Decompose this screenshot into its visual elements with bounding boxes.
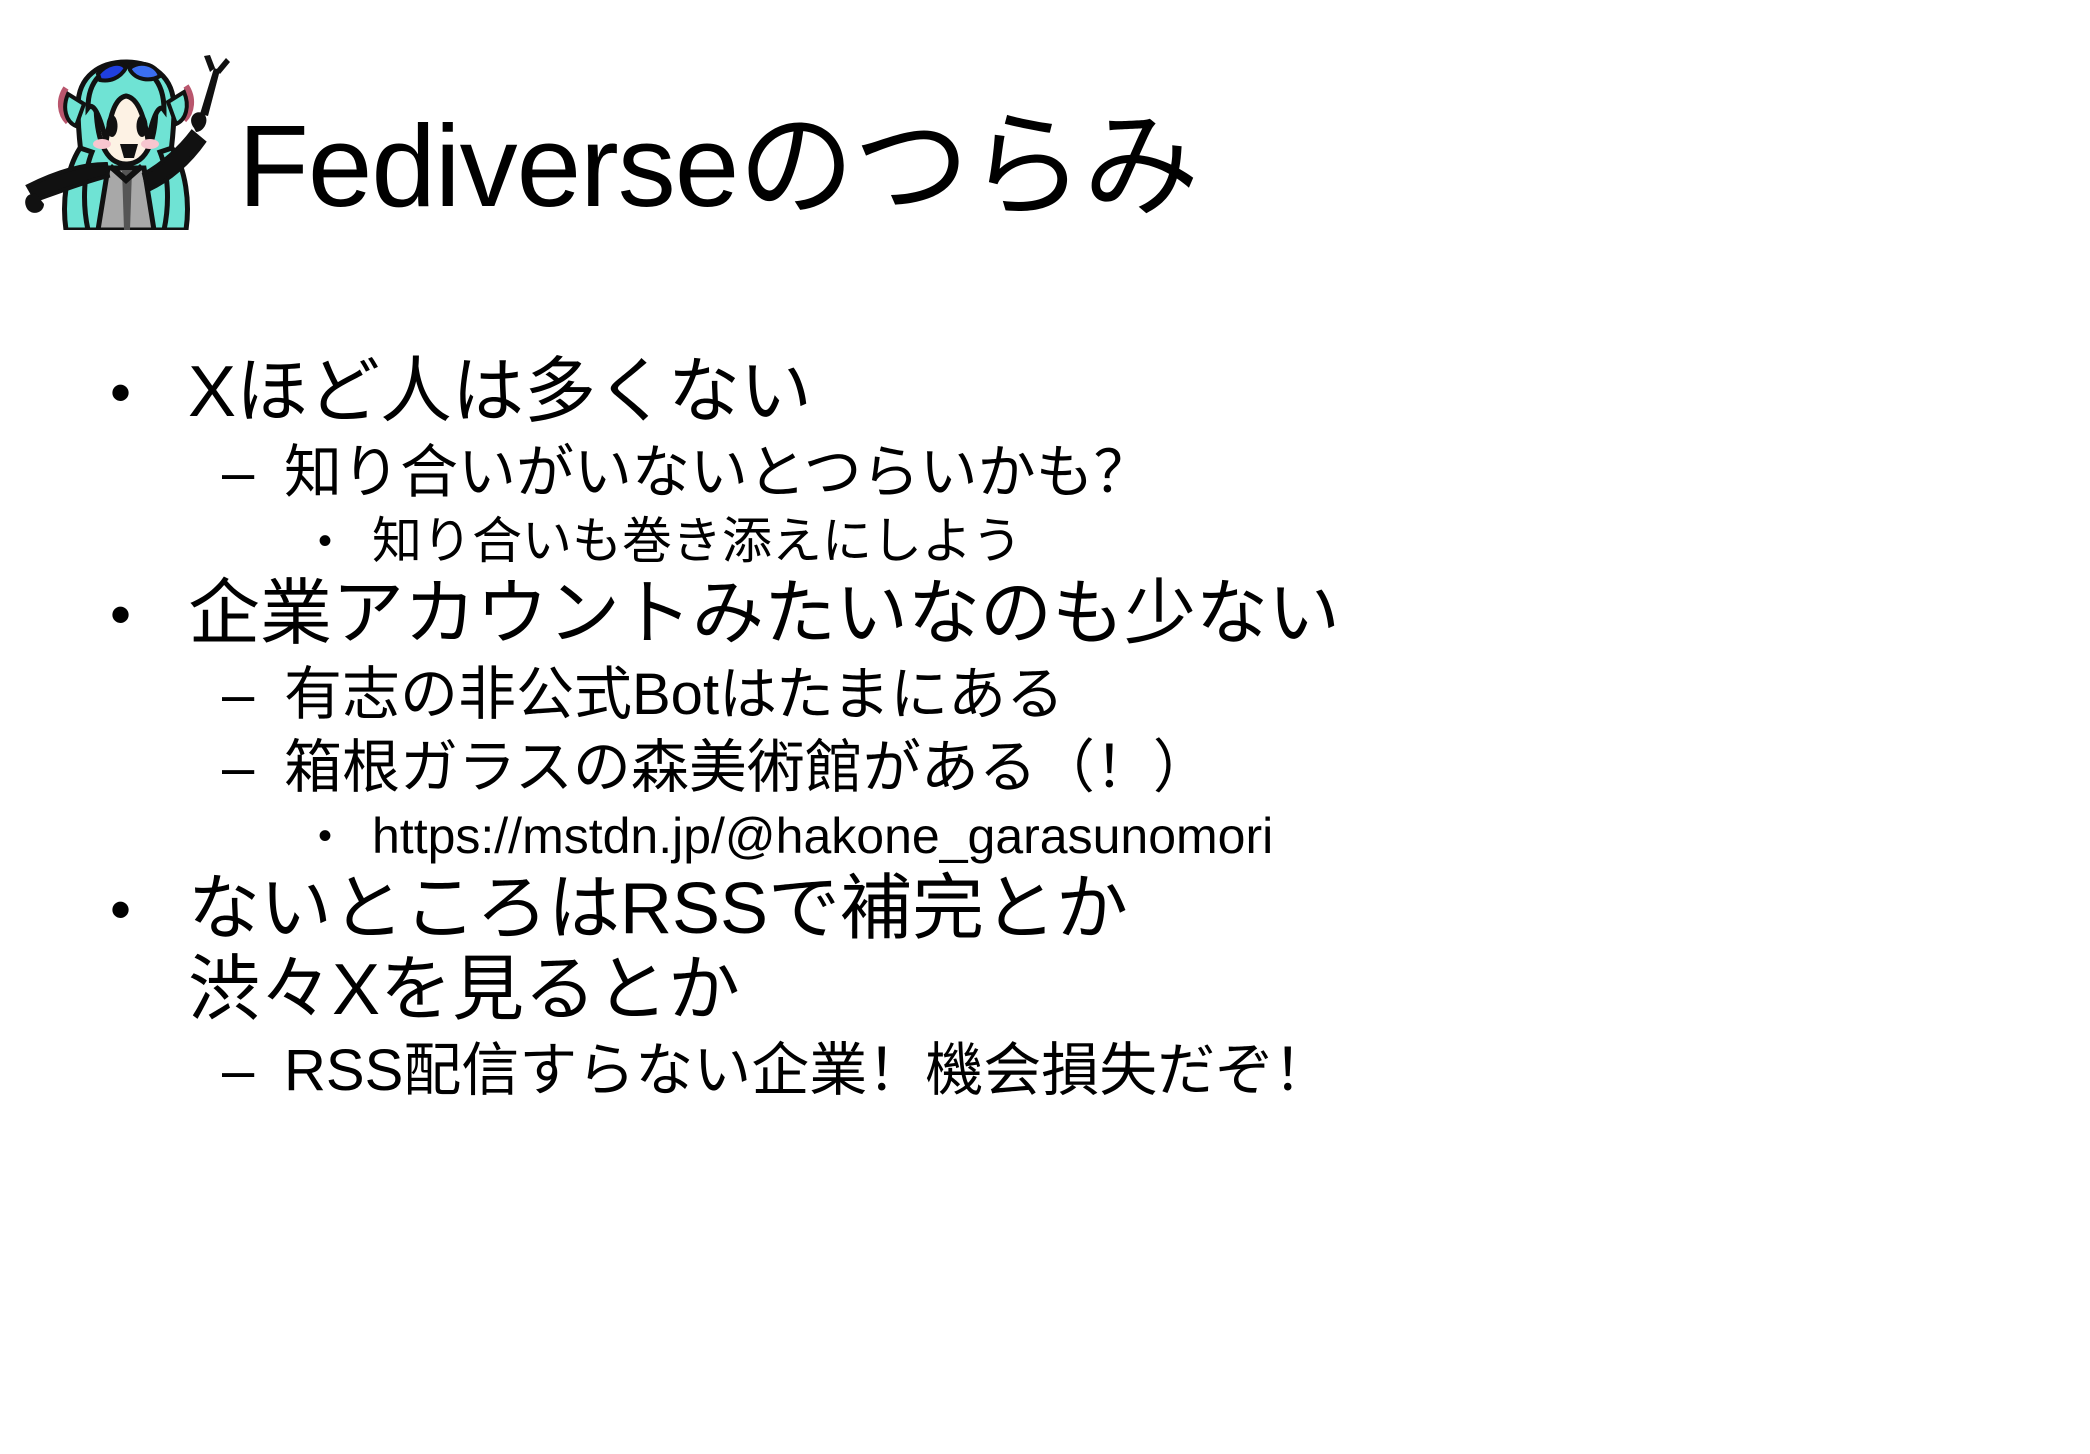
list-item-text: Xほど人は多くない — [188, 352, 812, 434]
bullet-marker-dash: – — [222, 658, 284, 731]
page-title: Fediverseのつらみ — [238, 108, 1198, 230]
list-item: • 知り合いも巻き添えにしよう — [0, 509, 2090, 574]
bullet-marker-dot: • — [110, 869, 188, 951]
slide-canvas: Fediverseのつらみ • Xほど人は多くない – 知り合いがいないとつらい… — [0, 0, 2090, 1454]
hatsune-miku-chibi-illustration-icon — [22, 52, 254, 230]
bullet-marker-dot: • — [110, 574, 188, 656]
list-item: • Xほど人は多くない — [0, 352, 2090, 434]
list-item-text: ないところはRSSで補完とか 渋々Xを見るとか — [188, 869, 1128, 1032]
list-item: • 企業アカウントみたいなのも少ない — [0, 574, 2090, 656]
list-item-text: 知り合いも巻き添えにしよう — [372, 509, 1022, 574]
list-item-text: 企業アカウントみたいなのも少ない — [188, 574, 1340, 656]
list-item: – 有志の非公式Botはたまにある — [0, 658, 2090, 731]
list-item-text: 知り合いがいないとつらいかも？ — [284, 436, 1152, 509]
list-item-text: RSS配信すらない企業！機会損失だぞ！ — [284, 1034, 1331, 1107]
list-item: – RSS配信すらない企業！機会損失だぞ！ — [0, 1034, 2090, 1107]
list-item: – 箱根ガラスの森美術館がある（！） — [0, 731, 2090, 804]
list-item: – 知り合いがいないとつらいかも？ — [0, 436, 2090, 509]
bullet-marker-dash: – — [222, 436, 284, 509]
bullet-marker-dash: – — [222, 1034, 284, 1107]
mastodon-profile-url[interactable]: https://mstdn.jp/@hakone_garasunomori — [372, 804, 1273, 869]
bullet-marker-dash: – — [222, 731, 284, 804]
slide-title-row: Fediverseのつらみ — [22, 52, 1198, 230]
list-item: • ないところはRSSで補完とか 渋々Xを見るとか — [0, 869, 2090, 1032]
list-item-text: 箱根ガラスの森美術館がある（！） — [284, 731, 1211, 804]
list-item-link[interactable]: • https://mstdn.jp/@hakone_garasunomori — [0, 804, 2090, 869]
bullet-marker-dot: • — [110, 352, 188, 434]
bullet-marker-dot: • — [318, 804, 372, 869]
bullet-list: • Xほど人は多くない – 知り合いがいないとつらいかも？ • 知り合いも巻き添… — [0, 352, 2090, 1107]
list-item-text: 有志の非公式Botはたまにある — [284, 658, 1064, 731]
bullet-marker-dot: • — [318, 509, 372, 574]
